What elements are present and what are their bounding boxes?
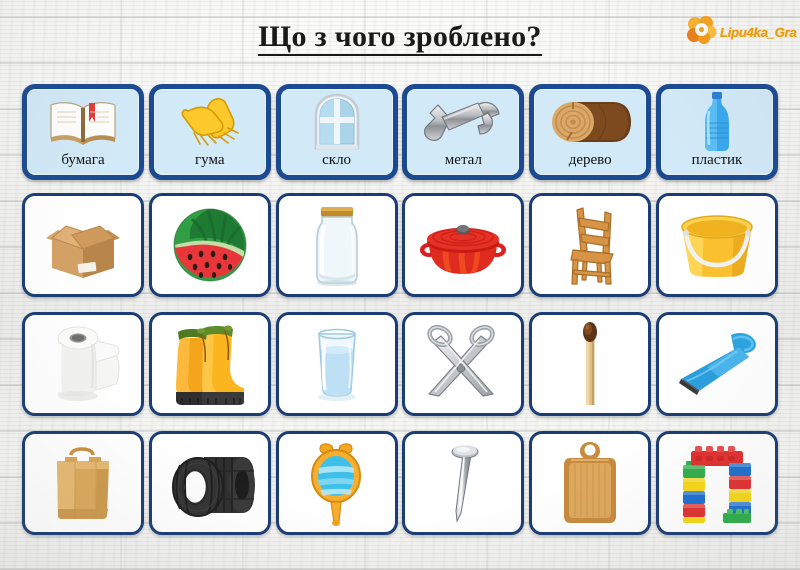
page-title: Що з чого зроблено? [0,20,800,54]
dustpan-icon [673,329,761,399]
material-column-wood: дерево [529,84,651,180]
lego-blocks-icon [673,443,761,523]
item-row-1 [22,193,778,297]
item-card-match[interactable] [529,312,651,416]
cutting-board-icon [562,440,618,526]
material-card-plastic[interactable]: пластик [656,84,778,180]
item-card-dustpan[interactable] [656,312,778,416]
wood-log-icon [534,89,646,153]
material-column-paper: бумага [22,84,144,180]
item-card-cutting-board[interactable] [529,431,651,535]
wrench-icon [407,89,519,153]
item-card-watermelon-ball[interactable] [149,193,271,297]
material-label-rubber: гума [195,153,225,175]
tires-icon [164,447,256,519]
plastic-bottle-icon [661,89,773,153]
material-card-rubber[interactable]: гума [149,84,271,180]
item-card-wooden-chair[interactable] [529,193,651,297]
item-row-3 [22,431,778,535]
page-title-text: Що з чого зроблено? [258,20,541,56]
material-column-glass: скло [276,84,398,180]
material-label-wood: дерево [569,153,612,175]
item-card-glass-jar[interactable] [276,193,398,297]
cardboard-box-icon [38,208,128,282]
material-label-paper: бумага [61,153,104,175]
paper-bag-icon [49,443,117,523]
scissors-icon [419,324,507,404]
material-column-rubber: гума [149,84,271,180]
watermelon-ball-icon [170,205,250,285]
glass-jar-icon [311,203,363,287]
flower-icon [684,13,718,52]
item-card-red-pot[interactable] [402,193,524,297]
item-card-yellow-bucket[interactable] [656,193,778,297]
red-pot-icon [417,212,509,278]
item-card-rubber-boots[interactable] [149,312,271,416]
hand-mirror-icon [306,440,368,526]
item-card-hand-mirror[interactable] [276,431,398,535]
rubber-boots-icon [170,322,250,406]
match-icon [578,321,602,407]
brand-logo-text: Lipu4ka_Gra [720,25,797,40]
item-card-tires[interactable] [149,431,271,535]
item-card-nail[interactable] [402,431,524,535]
toilet-paper-roll-icon [42,326,124,402]
item-card-lego-blocks[interactable] [656,431,778,535]
item-card-toilet-paper-roll[interactable] [22,312,144,416]
nail-icon [441,441,485,525]
material-label-metal: метал [445,153,482,175]
material-card-metal[interactable]: метал [402,84,524,180]
material-label-plastic: пластик [692,153,743,175]
material-sorting-grid: бумага гума [22,84,778,550]
material-column-metal: метал [402,84,524,180]
item-card-paper-bag[interactable] [22,431,144,535]
water-glass-icon [310,326,364,402]
item-card-scissors[interactable] [402,312,524,416]
brand-logo: Lipu4ka_Gra [684,12,788,52]
material-card-glass[interactable]: скло [276,84,398,180]
material-card-wood[interactable]: дерево [529,84,651,180]
window-icon [281,89,393,153]
material-card-paper[interactable]: бумага [22,84,144,180]
open-book-icon [27,89,139,153]
yellow-bucket-icon [674,211,760,279]
item-card-water-glass[interactable] [276,312,398,416]
material-label-glass: скло [322,153,351,175]
item-row-2 [22,312,778,416]
material-header-row: бумага гума [22,84,778,180]
page-header: Що з чого зроблено? Lipu4ka_Gra [0,0,800,74]
item-card-cardboard-box[interactable] [22,193,144,297]
wooden-chair-icon [561,204,619,286]
rubber-gloves-icon [154,89,266,153]
material-column-plastic: пластик [656,84,778,180]
